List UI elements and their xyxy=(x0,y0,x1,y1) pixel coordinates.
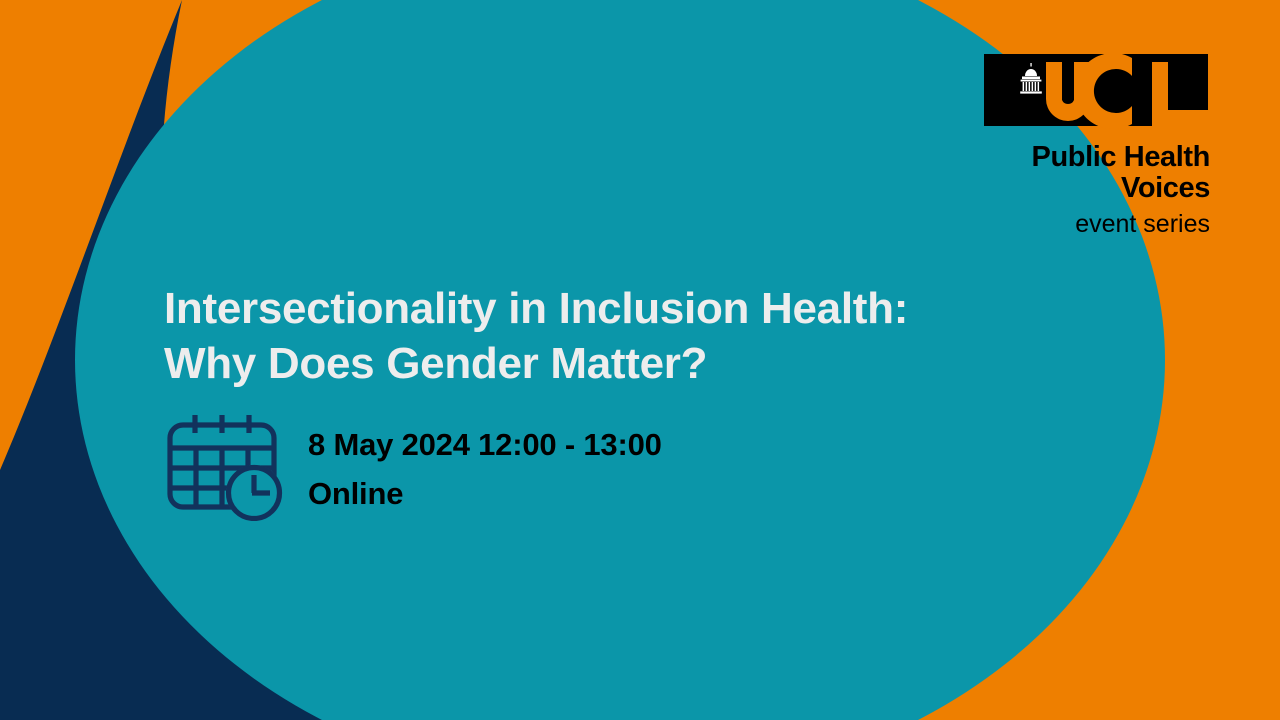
logo-subtitle-line-2: Voices xyxy=(984,173,1210,204)
event-details: 8 May 2024 12:00 - 13:00 Online xyxy=(166,411,662,521)
event-banner: Public Health Voices event series Inters… xyxy=(0,0,1280,720)
event-title-line-2: Why Does Gender Matter? xyxy=(164,336,1024,391)
logo-tagline: event series xyxy=(984,205,1210,240)
logo-subtitle-line-1: Public Health xyxy=(984,132,1210,173)
event-title-line-1: Intersectionality in Inclusion Health: xyxy=(164,281,1024,336)
event-location: Online xyxy=(308,469,662,518)
event-title: Intersectionality in Inclusion Health: W… xyxy=(164,281,1024,391)
event-details-text: 8 May 2024 12:00 - 13:00 Online xyxy=(290,411,662,518)
ucl-logo xyxy=(984,54,1210,132)
calendar-clock-icon xyxy=(166,411,290,521)
event-datetime: 8 May 2024 12:00 - 13:00 xyxy=(308,420,662,469)
ucl-logo-block: Public Health Voices event series xyxy=(984,54,1210,240)
